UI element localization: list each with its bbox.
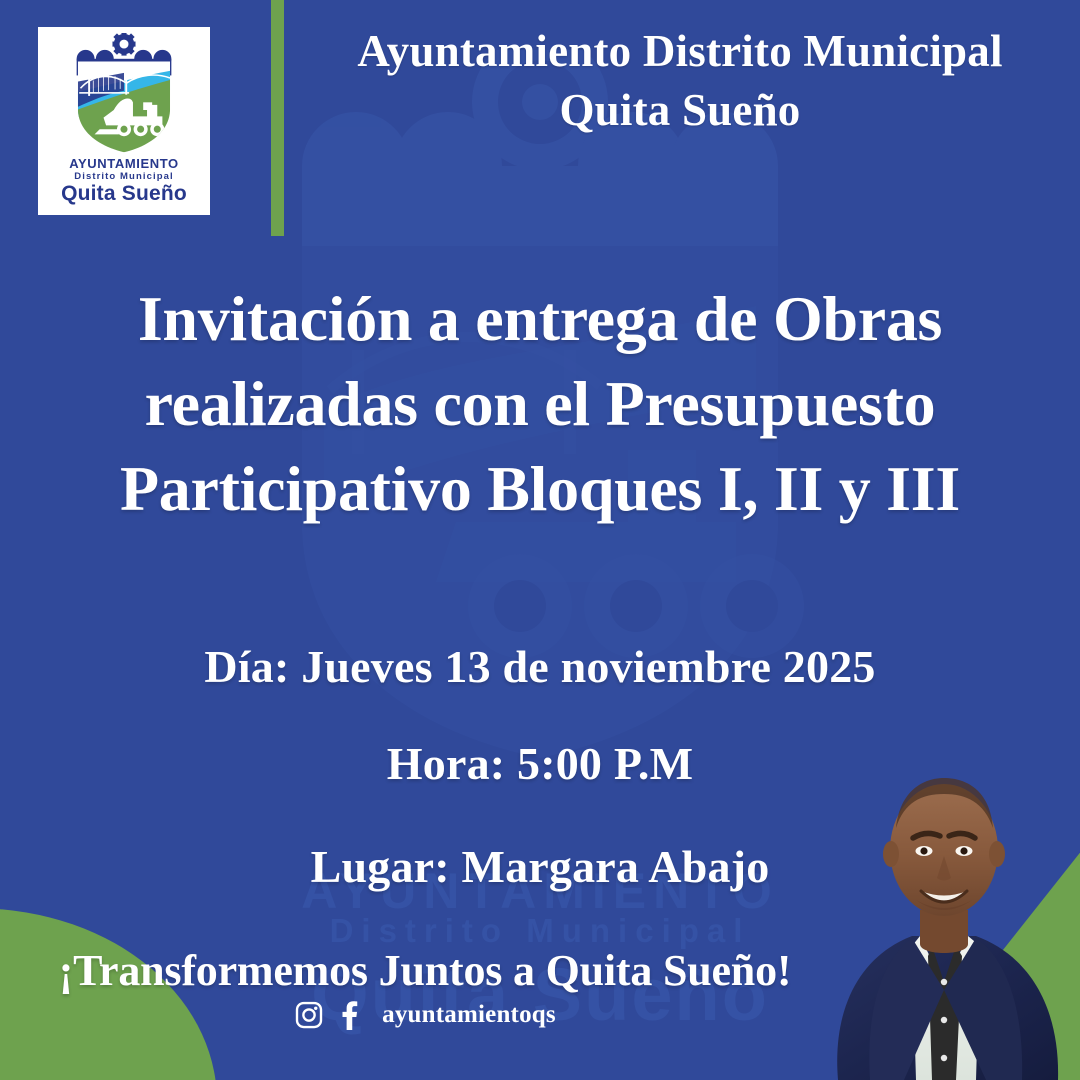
- official-portrait-photo: [808, 750, 1080, 1080]
- title-line-3: Participativo Bloques I, II y III: [30, 446, 1050, 531]
- social-media-bar: ayuntamientoqs: [20, 1000, 830, 1030]
- page-title: Invitación a entrega de Obras realizadas…: [30, 276, 1050, 531]
- slogan-text: ¡Transformemos Juntos a Quita Sueño!: [20, 945, 830, 996]
- logo-line-2: Distrito Municipal: [74, 172, 174, 182]
- social-handle[interactable]: ayuntamientoqs: [382, 1001, 556, 1029]
- title-line-1: Invitación a entrega de Obras: [30, 276, 1050, 361]
- poster-canvas: AYUNTAMIENTO Distrito Municipal Quita Su…: [0, 0, 1080, 1080]
- header-line-2: Quita Sueño: [300, 81, 1060, 140]
- event-date: Día: Jueves 13 de noviembre 2025: [0, 640, 1080, 693]
- title-line-2: realizadas con el Presupuesto: [30, 361, 1050, 446]
- header-title: Ayuntamiento Distrito Municipal Quita Su…: [300, 22, 1060, 139]
- municipality-logo: AYUNTAMIENTO Distrito Municipal Quita Su…: [38, 27, 210, 215]
- logo-line-1: AYUNTAMIENTO: [69, 157, 179, 170]
- logo-line-3: Quita Sueño: [61, 183, 187, 204]
- header-line-1: Ayuntamiento Distrito Municipal: [300, 22, 1060, 81]
- instagram-icon[interactable]: [294, 1000, 324, 1030]
- green-divider-bar: [271, 0, 284, 236]
- facebook-icon[interactable]: [336, 1000, 362, 1030]
- crest-logo-icon: [60, 33, 188, 155]
